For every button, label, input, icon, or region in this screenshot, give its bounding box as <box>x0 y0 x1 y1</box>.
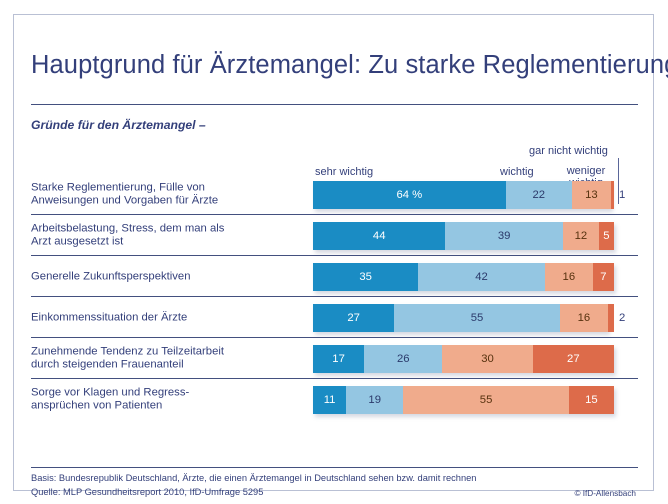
row-label: Zunehmende Tendenz zu Teilzeitarbeitdurc… <box>31 345 303 372</box>
row-label: Einkommenssituation der Ärzte <box>31 311 303 325</box>
bar-segment[interactable]: 30 <box>442 345 532 373</box>
stacked-bar[interactable]: 17263027 <box>313 345 614 373</box>
stacked-bar[interactable]: 3542167 <box>313 263 614 291</box>
bar-wrapper: 2755162 <box>313 304 638 332</box>
row-label-line-2: durch steigenden Frauenanteil <box>31 359 303 373</box>
bar-wrapper: 17263027 <box>313 345 638 373</box>
table-row: Einkommenssituation der Ärzte2755162 <box>31 297 638 338</box>
bar-wrapper: 11195515 <box>313 386 638 414</box>
footer-basis: Basis: Bundesrepublik Deutschland, Ärzte… <box>31 473 476 483</box>
row-label: Starke Reglementierung, Fülle vonAnweisu… <box>31 181 303 208</box>
table-row: Generelle Zukunftsperspektiven3542167 <box>31 256 638 297</box>
footer-source: Quelle: MLP Gesundheitsreport 2010, IfD-… <box>31 487 263 497</box>
bar-segment[interactable]: 39 <box>445 222 562 250</box>
row-label-line-1: Starke Reglementierung, Fülle von <box>31 181 303 195</box>
row-label-line-2: ansprüchen von Patienten <box>31 400 303 414</box>
bar-segment[interactable]: 19 <box>346 386 403 414</box>
table-row: Sorge vor Klagen und Regress-ansprüchen … <box>31 379 638 420</box>
row-label-line-2: Anweisungen und Vorgaben für Ärzte <box>31 195 303 209</box>
stacked-bar[interactable]: 275516 <box>313 304 608 332</box>
table-row: Starke Reglementierung, Fülle vonAnweisu… <box>31 174 638 215</box>
bar-segment-value-label: 1 <box>619 189 625 201</box>
row-label: Sorge vor Klagen und Regress-ansprüchen … <box>31 386 303 413</box>
bar-segment[interactable]: 44 <box>313 222 445 250</box>
bar-segment[interactable]: 55 <box>394 304 560 332</box>
bar-segment-value-label: 2 <box>619 312 625 324</box>
row-label-line-1: Zunehmende Tendenz zu Teilzeitarbeit <box>31 345 303 359</box>
table-row: Arbeitsbelastung, Stress, dem man alsArz… <box>31 215 638 256</box>
bar-segment[interactable]: 13 <box>572 181 611 209</box>
bar-segment[interactable]: 27 <box>533 345 614 373</box>
row-label-line-1: Einkommenssituation der Ärzte <box>31 311 303 325</box>
bar-segment[interactable]: 22 <box>506 181 572 209</box>
row-label-line-1: Generelle Zukunftsperspektiven <box>31 270 303 284</box>
bar-segment[interactable] <box>608 304 614 332</box>
stacked-bar[interactable]: 64 %2213 <box>313 181 611 209</box>
bar-segment[interactable]: 5 <box>599 222 614 250</box>
row-label: Arbeitsbelastung, Stress, dem man alsArz… <box>31 222 303 249</box>
bar-segment[interactable]: 42 <box>418 263 544 291</box>
row-label: Generelle Zukunftsperspektiven <box>31 270 303 284</box>
bar-segment[interactable]: 64 % <box>313 181 506 209</box>
table-row: Zunehmende Tendenz zu Teilzeitarbeitdurc… <box>31 338 638 379</box>
chart-rows: Starke Reglementierung, Fülle vonAnweisu… <box>14 15 653 490</box>
bar-segment[interactable]: 26 <box>364 345 442 373</box>
row-label-line-1: Sorge vor Klagen und Regress- <box>31 386 303 400</box>
bar-segment[interactable]: 12 <box>563 222 599 250</box>
footer-copyright: © IfD-Allensbach <box>574 489 636 498</box>
bar-segment[interactable]: 17 <box>313 345 364 373</box>
footer-divider <box>31 467 638 468</box>
bar-segment[interactable]: 16 <box>545 263 593 291</box>
row-label-line-1: Arbeitsbelastung, Stress, dem man als <box>31 222 303 236</box>
bar-segment[interactable]: 27 <box>313 304 394 332</box>
chart-frame: Hauptgrund für Ärztemangel: Zu starke Re… <box>13 14 654 491</box>
bar-segment[interactable] <box>611 181 614 209</box>
stacked-bar[interactable]: 11195515 <box>313 386 614 414</box>
bar-segment[interactable]: 11 <box>313 386 346 414</box>
row-label-line-2: Arzt ausgesetzt ist <box>31 236 303 250</box>
bar-wrapper: 4439125 <box>313 222 638 250</box>
stacked-bar[interactable]: 4439125 <box>313 222 614 250</box>
bar-wrapper: 64 %22131 <box>313 181 638 209</box>
bar-segment[interactable]: 16 <box>560 304 608 332</box>
bar-segment[interactable]: 35 <box>313 263 418 291</box>
bar-segment[interactable]: 15 <box>569 386 614 414</box>
bar-segment[interactable]: 7 <box>593 263 614 291</box>
bar-segment[interactable]: 55 <box>403 386 569 414</box>
bar-wrapper: 3542167 <box>313 263 638 291</box>
